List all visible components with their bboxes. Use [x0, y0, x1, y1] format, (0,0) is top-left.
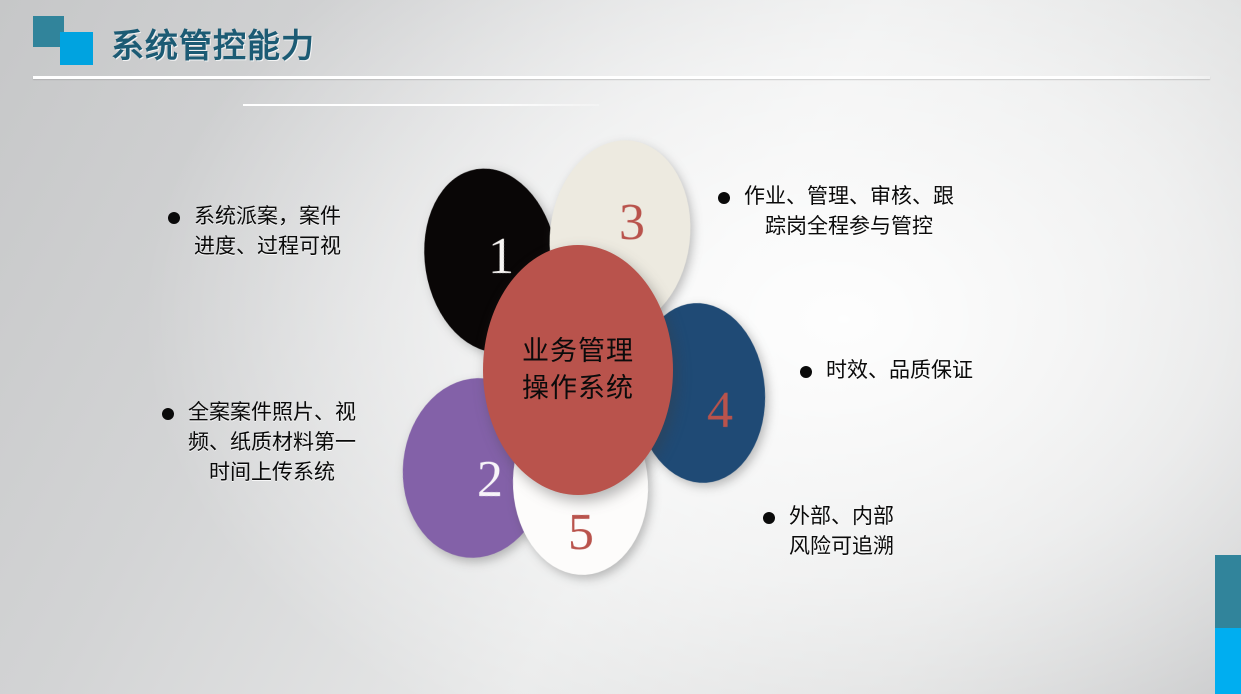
page-title: 系统管控能力 [111, 19, 315, 67]
petal-4-number: 4 [707, 385, 733, 437]
bullet-dot-icon [800, 366, 812, 378]
petal-5-number: 5 [568, 507, 594, 559]
slide-canvas: 系统管控能力 1 3 2 4 5 业务管理 操作系统 系统派案，案件 进度、过程… [0, 0, 1241, 694]
title-divider-rule [33, 76, 1210, 79]
callout-4: 时效、品质保证 [800, 356, 1050, 386]
core-label-line-2: 操作系统 [522, 370, 634, 407]
callout-3: 作业、管理、审核、跟 踪岗全程参与管控 [718, 182, 1048, 242]
diagram-core[interactable]: 业务管理 操作系统 [483, 245, 673, 495]
petal-3-number: 3 [619, 197, 645, 249]
callout-5: 外部、内部 风险可追溯 [763, 502, 1003, 562]
title-divider-secondary-rule [243, 104, 599, 106]
petal-2-number: 2 [477, 454, 503, 506]
callout-1-text: 系统派案，案件 进度、过程可视 [194, 202, 341, 262]
bullet-dot-icon [168, 212, 180, 224]
title-decor-square-bright [60, 32, 93, 65]
callout-1: 系统派案，案件 进度、过程可视 [168, 202, 418, 262]
callout-3-text: 作业、管理、审核、跟 踪岗全程参与管控 [744, 182, 954, 242]
bullet-dot-icon [763, 512, 775, 524]
callout-2-text: 全案案件照片、视 频、纸质材料第一 时间上传系统 [188, 398, 356, 487]
callout-2: 全案案件照片、视 频、纸质材料第一 时间上传系统 [162, 398, 427, 487]
petal-1-number: 1 [488, 231, 514, 283]
bullet-dot-icon [718, 192, 730, 204]
bullet-dot-icon [162, 408, 174, 420]
edge-decor-bar-blue [1215, 628, 1241, 694]
edge-decor-bar-teal [1215, 555, 1241, 628]
callout-4-text: 时效、品质保证 [826, 356, 973, 386]
callout-5-text: 外部、内部 风险可追溯 [789, 502, 894, 562]
core-label-line-1: 业务管理 [522, 333, 634, 370]
